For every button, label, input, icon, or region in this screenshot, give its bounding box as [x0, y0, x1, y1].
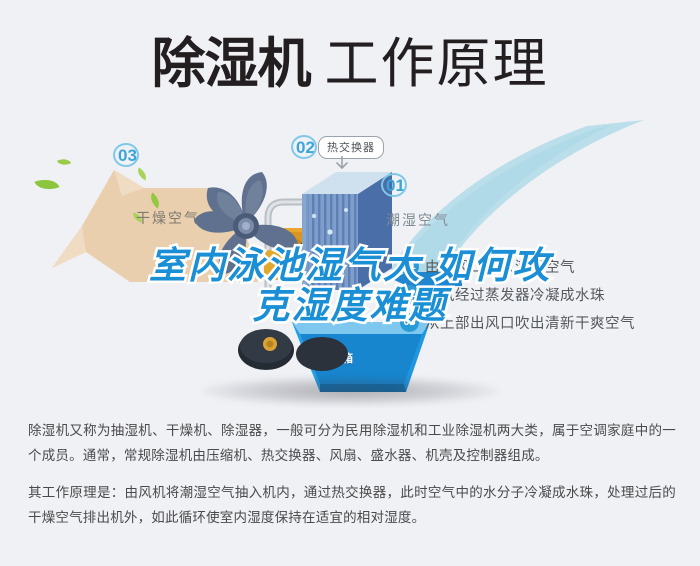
step-list: 01 由进风口吸入潮湿空气 02 空气经过蒸发器冷凝成水珠 03 从上部出风口吹…	[400, 252, 690, 336]
diagram-marker-01: 01	[386, 176, 405, 196]
infographic-page: 除湿机工作原理	[0, 0, 700, 566]
page-title: 除湿机工作原理	[0, 24, 700, 104]
paragraph-1: 除湿机又称为抽湿机、干燥机、除湿器，一般可分为民用除湿机和工业除湿机两大类，属于…	[28, 418, 676, 468]
body-text: 除湿机又称为抽湿机、干燥机、除湿器，一般可分为民用除湿机和工业除湿机两大类，属于…	[28, 418, 676, 530]
callout-tail-icon	[341, 156, 343, 172]
step-badge-03: 03	[400, 313, 419, 332]
step-text-01: 由进风口吸入潮湿空气	[425, 256, 575, 277]
step-item-03: 03 从上部出风口吹出清新干爽空气	[400, 308, 690, 336]
title-part-2: 工作原理	[325, 34, 549, 94]
title-line: 除湿机工作原理	[0, 24, 700, 104]
diagram-marker-03: 03	[118, 146, 137, 166]
title-part-1: 除湿机	[152, 34, 311, 94]
fan-icon	[186, 166, 306, 286]
step-text-02: 空气经过蒸发器冷凝成水珠	[425, 284, 605, 305]
step-text-03: 从上部出风口吹出清新干爽空气	[425, 312, 635, 333]
moist-air-label: 潮湿空气	[386, 210, 450, 230]
diagram-marker-02: 02	[296, 138, 315, 158]
dry-air-label: 干燥空气	[136, 208, 200, 228]
step-badge-02: 02	[400, 285, 419, 304]
step-item-02: 02 空气经过蒸发器冷凝成水珠	[400, 280, 690, 308]
machine-shadow	[200, 376, 500, 406]
machine-base-icon	[236, 326, 356, 372]
paragraph-2: 其工作原理是：由风机将潮湿空气抽入机内，通过热交换器，此时空气中的水分子冷凝成水…	[28, 480, 676, 530]
heat-exchanger-callout: 热交换器	[318, 136, 384, 159]
step-badge-01: 01	[400, 257, 419, 276]
step-item-01: 01 由进风口吸入潮湿空气	[400, 252, 690, 280]
